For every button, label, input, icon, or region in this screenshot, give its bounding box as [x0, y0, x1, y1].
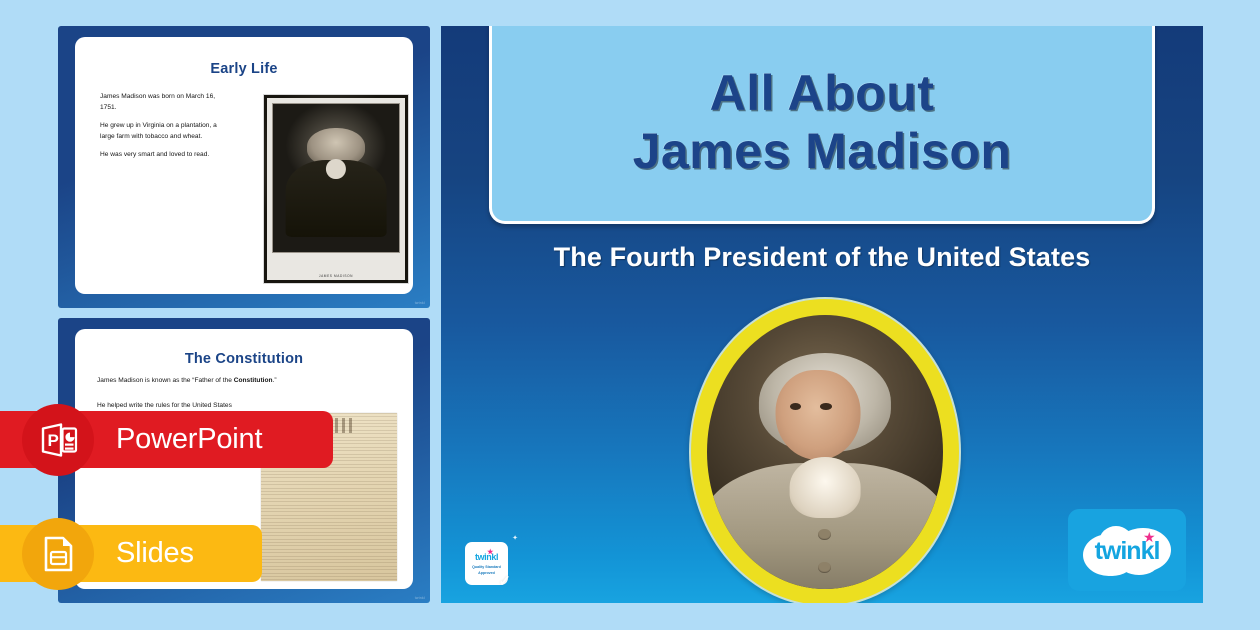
engraving-plate — [272, 103, 400, 253]
slide-thumbnail-early-life[interactable]: Early Life James Madison was born on Mar… — [58, 26, 430, 308]
thumbnail-title: The Constitution — [75, 351, 413, 367]
powerpoint-icon: P — [22, 404, 94, 476]
engraving-caption: JAMES MADISON — [264, 273, 408, 279]
thumbnail-body-text: James Madison was born on March 16, 1751… — [100, 92, 230, 167]
thumbnail-watermark: twinkl — [415, 596, 425, 600]
badge-label: Slides — [116, 537, 194, 570]
portrait-frame — [689, 297, 961, 603]
cloud-icon: ★ twinkl — [1081, 524, 1173, 576]
thumbnail-paragraph: He grew up in Virginia on a plantation, … — [100, 121, 230, 143]
page-title-line-1: All About — [710, 64, 935, 122]
page-title-line-2: James Madison — [633, 122, 1012, 180]
portrait-eye-left — [790, 403, 802, 410]
james-madison-portrait — [707, 315, 943, 589]
portrait-button-lower — [818, 562, 831, 574]
checkmark-icon: ✓ — [498, 574, 511, 589]
portrait-button-upper — [818, 529, 831, 541]
star-icon: ★ — [487, 549, 493, 556]
thumbnail-canvas: Early Life James Madison was born on Mar… — [75, 37, 413, 294]
main-slide-preview[interactable]: All About James Madison The Fourth Presi… — [441, 26, 1203, 603]
sparkle-icon: ✦ — [512, 534, 518, 542]
thumbnail-title: Early Life — [75, 61, 413, 77]
portrait-eye-right — [820, 403, 832, 410]
madison-engraving-image: JAMES MADISON — [263, 94, 409, 284]
format-badge-slides[interactable]: Slides — [0, 525, 262, 582]
qsa-caption: Quality Standard Approved — [472, 565, 501, 575]
portrait-cravat — [790, 457, 861, 517]
google-slides-icon — [22, 518, 94, 590]
format-badge-powerpoint[interactable]: P PowerPoint — [0, 411, 333, 468]
engraving-figure-cravat — [326, 159, 346, 180]
twinkl-logo[interactable]: ★ twinkl — [1068, 509, 1186, 591]
svg-text:P: P — [48, 431, 59, 450]
qsa-brand-word: ★ twinkl — [475, 553, 498, 562]
title-banner: All About James Madison — [489, 26, 1155, 224]
star-icon: ★ — [1143, 530, 1156, 544]
lead-suffix: .” — [273, 377, 277, 384]
qsa-caption-line-2: Approved — [472, 571, 501, 576]
twinkl-quality-standard-approved-badge: ✦ ★ twinkl Quality Standard Approved ✓ — [465, 542, 508, 585]
thumbnail-watermark: twinkl — [415, 301, 425, 305]
thumbnail-paragraph: He was very smart and loved to read. — [100, 150, 230, 161]
twinkl-wordmark: twinkl — [1081, 539, 1173, 564]
qsa-caption-line-1: Quality Standard — [472, 565, 501, 570]
lead-prefix: James Madison is known as the “Father of… — [97, 377, 234, 384]
thumbnail-paragraph: James Madison was born on March 16, 1751… — [100, 92, 230, 114]
portrait-face — [775, 370, 860, 460]
thumbnail-lead-text: James Madison is known as the “Father of… — [97, 377, 395, 384]
badge-label: PowerPoint — [116, 423, 262, 456]
page-subtitle: The Fourth President of the United State… — [441, 242, 1203, 273]
lead-bold: Constitution — [234, 377, 273, 384]
